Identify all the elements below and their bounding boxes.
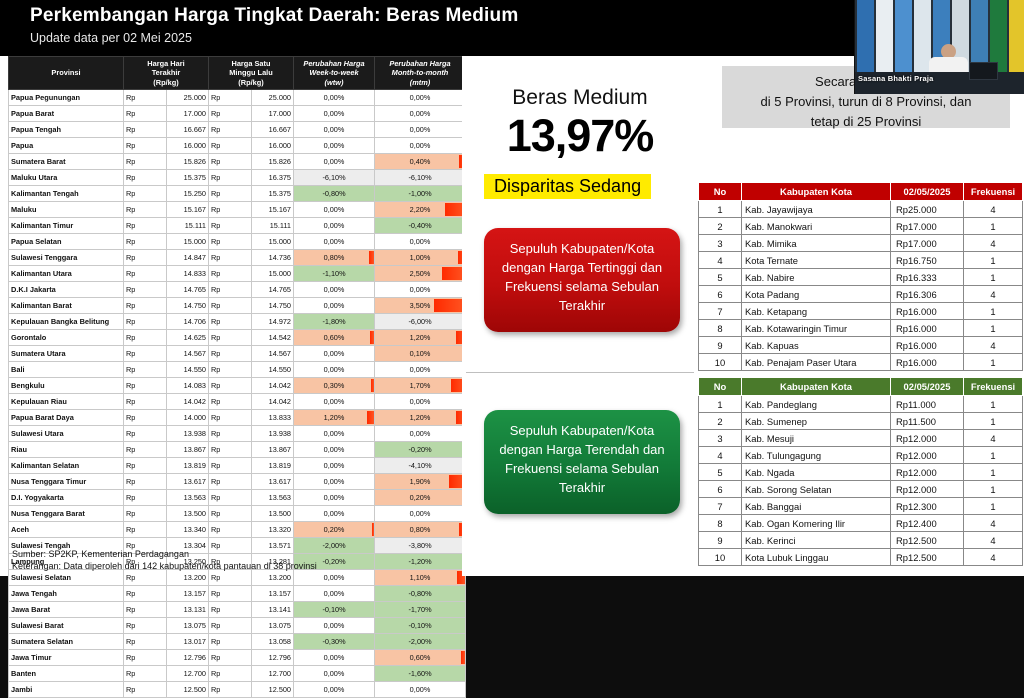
col-harga-terakhir-l1: Harga Hari xyxy=(147,59,184,68)
highest-freq-cell: 1 xyxy=(964,252,1023,269)
province-table-row: MalukuRp15.167Rp15.1670,00%2,20% xyxy=(9,201,466,217)
week-price-cell: 13.833 xyxy=(251,409,294,425)
last-price-cell: 16.000 xyxy=(166,137,209,153)
wtw-cell: 0,00% xyxy=(294,441,375,457)
wtw-cell: -0,10% xyxy=(294,601,375,617)
highest-price-cell: Rp16.000 xyxy=(891,320,964,337)
last-price-cell: 13.500 xyxy=(166,505,209,521)
province-name-cell: Bali xyxy=(9,361,124,377)
province-name-cell: Aceh xyxy=(9,521,124,537)
mtm-cell: -0,10% xyxy=(375,617,466,633)
currency-cell: Rp xyxy=(124,249,167,265)
province-name-cell: D.K.I Jakarta xyxy=(9,281,124,297)
mtm-cell: 0,00% xyxy=(375,89,466,105)
lowest-col-price: 02/05/2025 xyxy=(891,378,964,396)
province-table-row: Kalimantan TimurRp15.111Rp15.1110,00%-0,… xyxy=(9,217,466,233)
province-name-cell: Maluku xyxy=(9,201,124,217)
currency-cell: Rp xyxy=(209,249,252,265)
province-name-cell: Nusa Tenggara Barat xyxy=(9,505,124,521)
currency-cell: Rp xyxy=(124,345,167,361)
mtm-cell: -0,80% xyxy=(375,585,466,601)
wtw-cell: 0,00% xyxy=(294,217,375,233)
lowest-table-body: 1Kab. PandeglangRp11.00012Kab. SumenepRp… xyxy=(699,396,1023,566)
highest-col-no: No xyxy=(699,183,742,201)
table-row: 4Kab. TulungagungRp12.0001 xyxy=(699,447,1023,464)
wtw-cell: -1,80% xyxy=(294,313,375,329)
currency-cell: Rp xyxy=(209,217,252,233)
mtm-cell: 0,60% xyxy=(375,649,466,665)
col-wtw-l2: Week-to-week xyxy=(309,68,358,77)
province-table-row: D.K.I JakartaRp14.765Rp14.7650,00%0,00% xyxy=(9,281,466,297)
wtw-cell: 0,00% xyxy=(294,473,375,489)
disparity-badge: Disparitas Sedang xyxy=(484,174,651,199)
wtw-cell: -1,10% xyxy=(294,265,375,281)
highest-price-cell: Rp16.000 xyxy=(891,337,964,354)
province-table-row: Kalimantan TengahRp15.250Rp15.375-0,80%-… xyxy=(9,185,466,201)
wtw-databar xyxy=(370,331,374,344)
province-table-header-row: Provinsi Harga Hari Terakhir (Rp/kg) Har… xyxy=(9,57,466,90)
lowest-no-cell: 1 xyxy=(699,396,742,413)
lowest-price-cell: Rp12.000 xyxy=(891,481,964,498)
currency-cell: Rp xyxy=(209,297,252,313)
province-table-row: Papua PegununganRp25.000Rp25.0000,00%0,0… xyxy=(9,89,466,105)
currency-cell: Rp xyxy=(124,489,167,505)
mtm-cell: 1,20% xyxy=(375,409,466,425)
highest-price-cell: Rp17.000 xyxy=(891,218,964,235)
week-price-cell: 13.141 xyxy=(251,601,294,617)
mtm-cell: 0,80% xyxy=(375,521,466,537)
last-price-cell: 14.706 xyxy=(166,313,209,329)
province-name-cell: Kalimantan Tengah xyxy=(9,185,124,201)
currency-cell: Rp xyxy=(124,633,167,649)
week-price-cell: 13.867 xyxy=(251,441,294,457)
currency-cell: Rp xyxy=(124,185,167,201)
currency-cell: Rp xyxy=(124,521,167,537)
last-price-cell: 12.700 xyxy=(166,665,209,681)
week-price-cell: 14.972 xyxy=(251,313,294,329)
week-price-cell: 14.542 xyxy=(251,329,294,345)
highest-freq-cell: 4 xyxy=(964,337,1023,354)
last-price-cell: 12.796 xyxy=(166,649,209,665)
highest-no-cell: 10 xyxy=(699,354,742,371)
highest-freq-cell: 1 xyxy=(964,303,1023,320)
lowest-freq-cell: 4 xyxy=(964,430,1023,447)
province-name-cell: Banten xyxy=(9,665,124,681)
wtw-cell: 0,20% xyxy=(294,521,375,537)
week-price-cell: 15.000 xyxy=(251,265,294,281)
footnote: Sumber: SP2KP, Kementerian Perdagangan K… xyxy=(12,548,317,572)
currency-cell: Rp xyxy=(209,505,252,521)
highest-no-cell: 1 xyxy=(699,201,742,218)
currency-cell: Rp xyxy=(124,153,167,169)
lowest-price-table: No Kabupaten Kota 02/05/2025 Frekuensi 1… xyxy=(698,377,1023,566)
wtw-cell: 0,00% xyxy=(294,153,375,169)
table-row: 4Kota TernateRp16.7501 xyxy=(699,252,1023,269)
currency-cell: Rp xyxy=(124,329,167,345)
week-price-cell: 13.819 xyxy=(251,457,294,473)
wtw-cell: 0,00% xyxy=(294,201,375,217)
table-row: 9Kab. KerinciRp12.5004 xyxy=(699,532,1023,549)
week-price-cell: 14.042 xyxy=(251,393,294,409)
currency-cell: Rp xyxy=(209,361,252,377)
last-price-cell: 14.765 xyxy=(166,281,209,297)
province-name-cell: Kalimantan Timur xyxy=(9,217,124,233)
last-price-cell: 14.847 xyxy=(166,249,209,265)
mtm-cell: 1,90% xyxy=(375,473,466,489)
col-wtw-l3: (wtw) xyxy=(325,78,344,87)
lowest-name-cell: Kab. Sumenep xyxy=(742,413,891,430)
province-name-cell: D.I. Yogyakarta xyxy=(9,489,124,505)
week-price-cell: 16.000 xyxy=(251,137,294,153)
lowest-name-cell: Kab. Banggai xyxy=(742,498,891,515)
last-price-cell: 13.075 xyxy=(166,617,209,633)
highest-name-cell: Kab. Nabire xyxy=(742,269,891,286)
section-divider xyxy=(466,372,694,373)
lowest-no-cell: 4 xyxy=(699,447,742,464)
last-price-cell: 25.000 xyxy=(166,89,209,105)
province-table-row: Papua TengahRp16.667Rp16.6670,00%0,00% xyxy=(9,121,466,137)
highest-no-cell: 6 xyxy=(699,286,742,303)
currency-cell: Rp xyxy=(209,681,252,697)
wtw-cell: 0,00% xyxy=(294,233,375,249)
week-price-cell: 13.058 xyxy=(251,633,294,649)
currency-cell: Rp xyxy=(124,377,167,393)
highest-no-cell: 9 xyxy=(699,337,742,354)
highest-no-cell: 3 xyxy=(699,235,742,252)
week-price-cell: 14.736 xyxy=(251,249,294,265)
wtw-cell: 0,00% xyxy=(294,489,375,505)
currency-cell: Rp xyxy=(124,121,167,137)
currency-cell: Rp xyxy=(209,393,252,409)
mtm-cell: -0,40% xyxy=(375,217,466,233)
currency-cell: Rp xyxy=(124,601,167,617)
highest-no-cell: 4 xyxy=(699,252,742,269)
currency-cell: Rp xyxy=(124,617,167,633)
wtw-cell: 0,00% xyxy=(294,665,375,681)
currency-cell: Rp xyxy=(209,649,252,665)
lowest-col-no: No xyxy=(699,378,742,396)
lowest-no-cell: 10 xyxy=(699,549,742,566)
mtm-cell: -2,00% xyxy=(375,633,466,649)
province-name-cell: Sulawesi Barat xyxy=(9,617,124,633)
currency-cell: Rp xyxy=(209,329,252,345)
weekly-note-line3: tetap di 25 Provinsi xyxy=(811,114,922,129)
laptop-icon xyxy=(969,62,998,80)
lowest-freq-cell: 4 xyxy=(964,515,1023,532)
currency-cell: Rp xyxy=(124,201,167,217)
week-price-cell: 15.111 xyxy=(251,217,294,233)
province-table-row: RiauRp13.867Rp13.8670,00%-0,20% xyxy=(9,441,466,457)
lowest-price-cell: Rp12.000 xyxy=(891,430,964,447)
province-name-cell: Kalimantan Utara xyxy=(9,265,124,281)
mtm-cell: 0,00% xyxy=(375,425,466,441)
lowest-no-cell: 6 xyxy=(699,481,742,498)
highest-price-cell: Rp16.306 xyxy=(891,286,964,303)
currency-cell: Rp xyxy=(124,169,167,185)
highest-name-cell: Kab. Ketapang xyxy=(742,303,891,320)
province-name-cell: Sumatera Utara xyxy=(9,345,124,361)
mtm-cell: 0,00% xyxy=(375,121,466,137)
last-price-cell: 16.667 xyxy=(166,121,209,137)
highest-price-cell: Rp25.000 xyxy=(891,201,964,218)
currency-cell: Rp xyxy=(209,105,252,121)
table-row: 2Kab. SumenepRp11.5001 xyxy=(699,413,1023,430)
province-table-container: Provinsi Harga Hari Terakhir (Rp/kg) Har… xyxy=(8,56,460,698)
wtw-cell: 0,00% xyxy=(294,137,375,153)
highest-name-cell: Kab. Kotawaringin Timur xyxy=(742,320,891,337)
commodity-label: Beras Medium xyxy=(462,86,698,110)
flag-icon xyxy=(895,0,912,74)
highest-name-cell: Kota Padang xyxy=(742,286,891,303)
currency-cell: Rp xyxy=(209,89,252,105)
table-row: 6Kab. Sorong SelatanRp12.0001 xyxy=(699,481,1023,498)
currency-cell: Rp xyxy=(209,633,252,649)
last-price-cell: 17.000 xyxy=(166,105,209,121)
highest-no-cell: 5 xyxy=(699,269,742,286)
province-table-row: Kepulauan Bangka BelitungRp14.706Rp14.97… xyxy=(9,313,466,329)
province-table-row: GorontaloRp14.625Rp14.5420,60%1,20% xyxy=(9,329,466,345)
currency-cell: Rp xyxy=(124,505,167,521)
lowest-price-cell: Rp12.500 xyxy=(891,532,964,549)
province-name-cell: Papua xyxy=(9,137,124,153)
col-harga-minggu-l2: Minggu Lalu xyxy=(229,68,273,77)
last-price-cell: 13.819 xyxy=(166,457,209,473)
currency-cell: Rp xyxy=(124,649,167,665)
col-harga-minggu-l1: Harga Satu xyxy=(231,59,270,68)
last-price-cell: 14.625 xyxy=(166,329,209,345)
currency-cell: Rp xyxy=(124,585,167,601)
last-price-cell: 15.167 xyxy=(166,201,209,217)
province-table-row: D.I. YogyakartaRp13.563Rp13.5630,00%0,20… xyxy=(9,489,466,505)
mtm-cell: -6,00% xyxy=(375,313,466,329)
lowest-freq-cell: 1 xyxy=(964,498,1023,515)
province-table-row: Papua SelatanRp15.000Rp15.0000,00%0,00% xyxy=(9,233,466,249)
province-name-cell: Riau xyxy=(9,441,124,457)
table-row: 10Kota Lubuk LinggauRp12.5004 xyxy=(699,549,1023,566)
wtw-cell: -0,30% xyxy=(294,633,375,649)
lowest-freq-cell: 4 xyxy=(964,549,1023,566)
wtw-cell: 0,00% xyxy=(294,505,375,521)
lowest-freq-cell: 1 xyxy=(964,413,1023,430)
currency-cell: Rp xyxy=(124,393,167,409)
mtm-cell: 0,00% xyxy=(375,137,466,153)
mtm-databar xyxy=(434,299,465,312)
currency-cell: Rp xyxy=(209,313,252,329)
last-price-cell: 12.500 xyxy=(166,681,209,697)
footnote-keterangan: Keterangan: Data diperoleh dari 142 kabu… xyxy=(12,560,317,572)
lowest-price-cell: Rp12.000 xyxy=(891,447,964,464)
week-price-cell: 17.000 xyxy=(251,105,294,121)
province-table-row: PapuaRp16.000Rp16.0000,00%0,00% xyxy=(9,137,466,153)
wtw-cell: 0,80% xyxy=(294,249,375,265)
highest-freq-cell: 1 xyxy=(964,218,1023,235)
currency-cell: Rp xyxy=(209,345,252,361)
province-table-row: Kalimantan BaratRp14.750Rp14.7500,00%3,5… xyxy=(9,297,466,313)
highest-freq-cell: 4 xyxy=(964,286,1023,303)
mtm-cell: -1,20% xyxy=(375,553,466,569)
lowest-no-cell: 5 xyxy=(699,464,742,481)
highest-name-cell: Kota Ternate xyxy=(742,252,891,269)
week-price-cell: 12.796 xyxy=(251,649,294,665)
mtm-cell: -3,80% xyxy=(375,537,466,553)
wtw-cell: 0,00% xyxy=(294,393,375,409)
last-price-cell: 13.617 xyxy=(166,473,209,489)
currency-cell: Rp xyxy=(209,265,252,281)
wtw-cell: -6,10% xyxy=(294,169,375,185)
highest-price-cell: Rp16.333 xyxy=(891,269,964,286)
currency-cell: Rp xyxy=(124,313,167,329)
highest-no-cell: 8 xyxy=(699,320,742,337)
col-mtm-l3: (mtm) xyxy=(410,78,431,87)
last-price-cell: 15.250 xyxy=(166,185,209,201)
week-price-cell: 15.000 xyxy=(251,233,294,249)
lowest-col-kabupaten: Kabupaten Kota xyxy=(742,378,891,396)
lowest-name-cell: Kota Lubuk Linggau xyxy=(742,549,891,566)
province-table-row: JambiRp12.500Rp12.5000,00%0,00% xyxy=(9,681,466,697)
currency-cell: Rp xyxy=(209,457,252,473)
mtm-cell: -6,10% xyxy=(375,169,466,185)
province-name-cell: Kepulauan Riau xyxy=(9,393,124,409)
wtw-databar xyxy=(369,251,374,264)
wtw-cell: 0,00% xyxy=(294,425,375,441)
lowest-price-cell: Rp12.000 xyxy=(891,464,964,481)
lowest-no-cell: 3 xyxy=(699,430,742,447)
mtm-cell: 1,10% xyxy=(375,569,466,585)
wtw-cell: -0,80% xyxy=(294,185,375,201)
mtm-cell: -1,00% xyxy=(375,185,466,201)
highest-name-cell: Kab. Mimika xyxy=(742,235,891,252)
wtw-cell: 0,30% xyxy=(294,377,375,393)
wtw-cell: 0,00% xyxy=(294,681,375,697)
week-price-cell: 25.000 xyxy=(251,89,294,105)
week-price-cell: 14.042 xyxy=(251,377,294,393)
table-row: 5Kab. NgadaRp12.0001 xyxy=(699,464,1023,481)
mtm-cell: 0,20% xyxy=(375,489,466,505)
last-price-cell: 14.833 xyxy=(166,265,209,281)
province-table-body: Papua PegununganRp25.000Rp25.0000,00%0,0… xyxy=(9,89,466,697)
wtw-cell: 0,00% xyxy=(294,281,375,297)
province-name-cell: Bengkulu xyxy=(9,377,124,393)
province-table-row: Sulawesi UtaraRp13.938Rp13.9380,00%0,00% xyxy=(9,425,466,441)
disparity-value: 13,97% xyxy=(462,110,698,162)
province-table-row: Sumatera SelatanRp13.017Rp13.058-0,30%-2… xyxy=(9,633,466,649)
table-row: 1Kab. PandeglangRp11.0001 xyxy=(699,396,1023,413)
highest-name-cell: Kab. Kapuas xyxy=(742,337,891,354)
lowest-col-frekuensi: Frekuensi xyxy=(964,378,1023,396)
province-table-row: Nusa Tenggara TimurRp13.617Rp13.6170,00%… xyxy=(9,473,466,489)
col-mtm-l1: Perubahan Harga xyxy=(389,59,450,68)
currency-cell: Rp xyxy=(124,441,167,457)
lowest-name-cell: Kab. Ngada xyxy=(742,464,891,481)
lowest-freq-cell: 1 xyxy=(964,447,1023,464)
highest-price-cell: Rp16.000 xyxy=(891,303,964,320)
highest-table-head: No Kabupaten Kota 02/05/2025 Frekuensi xyxy=(699,183,1023,201)
table-row: 7Kab. KetapangRp16.0001 xyxy=(699,303,1023,320)
col-harga-terakhir-l2: Terakhir xyxy=(152,68,181,77)
currency-cell: Rp xyxy=(124,361,167,377)
currency-cell: Rp xyxy=(124,105,167,121)
province-name-cell: Sulawesi Tenggara xyxy=(9,249,124,265)
province-name-cell: Gorontalo xyxy=(9,329,124,345)
currency-cell: Rp xyxy=(209,473,252,489)
province-table-row: Sulawesi TenggaraRp14.847Rp14.7360,80%1,… xyxy=(9,249,466,265)
lowest-freq-cell: 1 xyxy=(964,396,1023,413)
highest-freq-cell: 1 xyxy=(964,354,1023,371)
last-price-cell: 14.550 xyxy=(166,361,209,377)
province-name-cell: Papua Pegunungan xyxy=(9,89,124,105)
province-name-cell: Sumatera Barat xyxy=(9,153,124,169)
lowest-no-cell: 9 xyxy=(699,532,742,549)
currency-cell: Rp xyxy=(124,681,167,697)
mtm-cell: 2,20% xyxy=(375,201,466,217)
province-name-cell: Kalimantan Barat xyxy=(9,297,124,313)
wtw-cell: 1,20% xyxy=(294,409,375,425)
page-subtitle: Update data per 02 Mei 2025 xyxy=(30,31,192,45)
mtm-cell: 0,00% xyxy=(375,393,466,409)
last-price-cell: 14.000 xyxy=(166,409,209,425)
lowest-name-cell: Kab. Pandeglang xyxy=(742,396,891,413)
currency-cell: Rp xyxy=(124,297,167,313)
mtm-cell: 1,20% xyxy=(375,329,466,345)
province-name-cell: Maluku Utara xyxy=(9,169,124,185)
currency-cell: Rp xyxy=(209,201,252,217)
mtm-cell: -4,10% xyxy=(375,457,466,473)
mtm-cell: 0,00% xyxy=(375,505,466,521)
currency-cell: Rp xyxy=(209,233,252,249)
province-table-row: Sulawesi BaratRp13.075Rp13.0750,00%-0,10… xyxy=(9,617,466,633)
week-price-cell: 13.938 xyxy=(251,425,294,441)
wtw-cell: 0,00% xyxy=(294,121,375,137)
province-name-cell: Jawa Tengah xyxy=(9,585,124,601)
last-price-cell: 13.563 xyxy=(166,489,209,505)
week-price-cell: 13.157 xyxy=(251,585,294,601)
col-provinsi: Provinsi xyxy=(9,57,124,90)
highest-col-kabupaten: Kabupaten Kota xyxy=(742,183,891,201)
lowest-price-cell: Rp12.300 xyxy=(891,498,964,515)
col-harga-minggu-lalu: Harga Satu Minggu Lalu (Rp/kg) xyxy=(209,57,294,90)
province-table-row: Sumatera UtaraRp14.567Rp14.5670,00%0,10% xyxy=(9,345,466,361)
highest-freq-cell: 4 xyxy=(964,235,1023,252)
week-price-cell: 14.550 xyxy=(251,361,294,377)
footnote-source: Sumber: SP2KP, Kementerian Perdagangan xyxy=(12,548,317,560)
last-price-cell: 15.111 xyxy=(166,217,209,233)
province-table-row: AcehRp13.340Rp13.3200,20%0,80% xyxy=(9,521,466,537)
lowest-price-cell: Rp11.500 xyxy=(891,413,964,430)
highest-col-frekuensi: Frekuensi xyxy=(964,183,1023,201)
last-price-cell: 15.375 xyxy=(166,169,209,185)
province-table-head: Provinsi Harga Hari Terakhir (Rp/kg) Har… xyxy=(9,57,466,90)
province-table-row: Kalimantan SelatanRp13.819Rp13.8190,00%-… xyxy=(9,457,466,473)
table-row: 3Kab. MimikaRp17.0004 xyxy=(699,235,1023,252)
week-price-cell: 13.563 xyxy=(251,489,294,505)
province-table-row: Jawa TimurRp12.796Rp12.7960,00%0,60% xyxy=(9,649,466,665)
province-table-row: Papua BaratRp17.000Rp17.0000,00%0,00% xyxy=(9,105,466,121)
week-price-cell: 13.617 xyxy=(251,473,294,489)
currency-cell: Rp xyxy=(209,521,252,537)
week-price-cell: 13.320 xyxy=(251,521,294,537)
col-mtm-l2: Month-to-month xyxy=(392,68,449,77)
province-table-row: Sumatera BaratRp15.826Rp15.8260,00%0,40% xyxy=(9,153,466,169)
weekly-note-line2: di 5 Provinsi, turun di 8 Provinsi, dan xyxy=(761,94,972,109)
highest-price-table: No Kabupaten Kota 02/05/2025 Frekuensi 1… xyxy=(698,182,1023,371)
wtw-cell: 0,00% xyxy=(294,585,375,601)
week-price-cell: 14.750 xyxy=(251,297,294,313)
table-row: 6Kota PadangRp16.3064 xyxy=(699,286,1023,303)
lowest-freq-cell: 4 xyxy=(964,532,1023,549)
highest-no-cell: 7 xyxy=(699,303,742,320)
currency-cell: Rp xyxy=(209,137,252,153)
highest-name-cell: Kab. Penajam Paser Utara xyxy=(742,354,891,371)
